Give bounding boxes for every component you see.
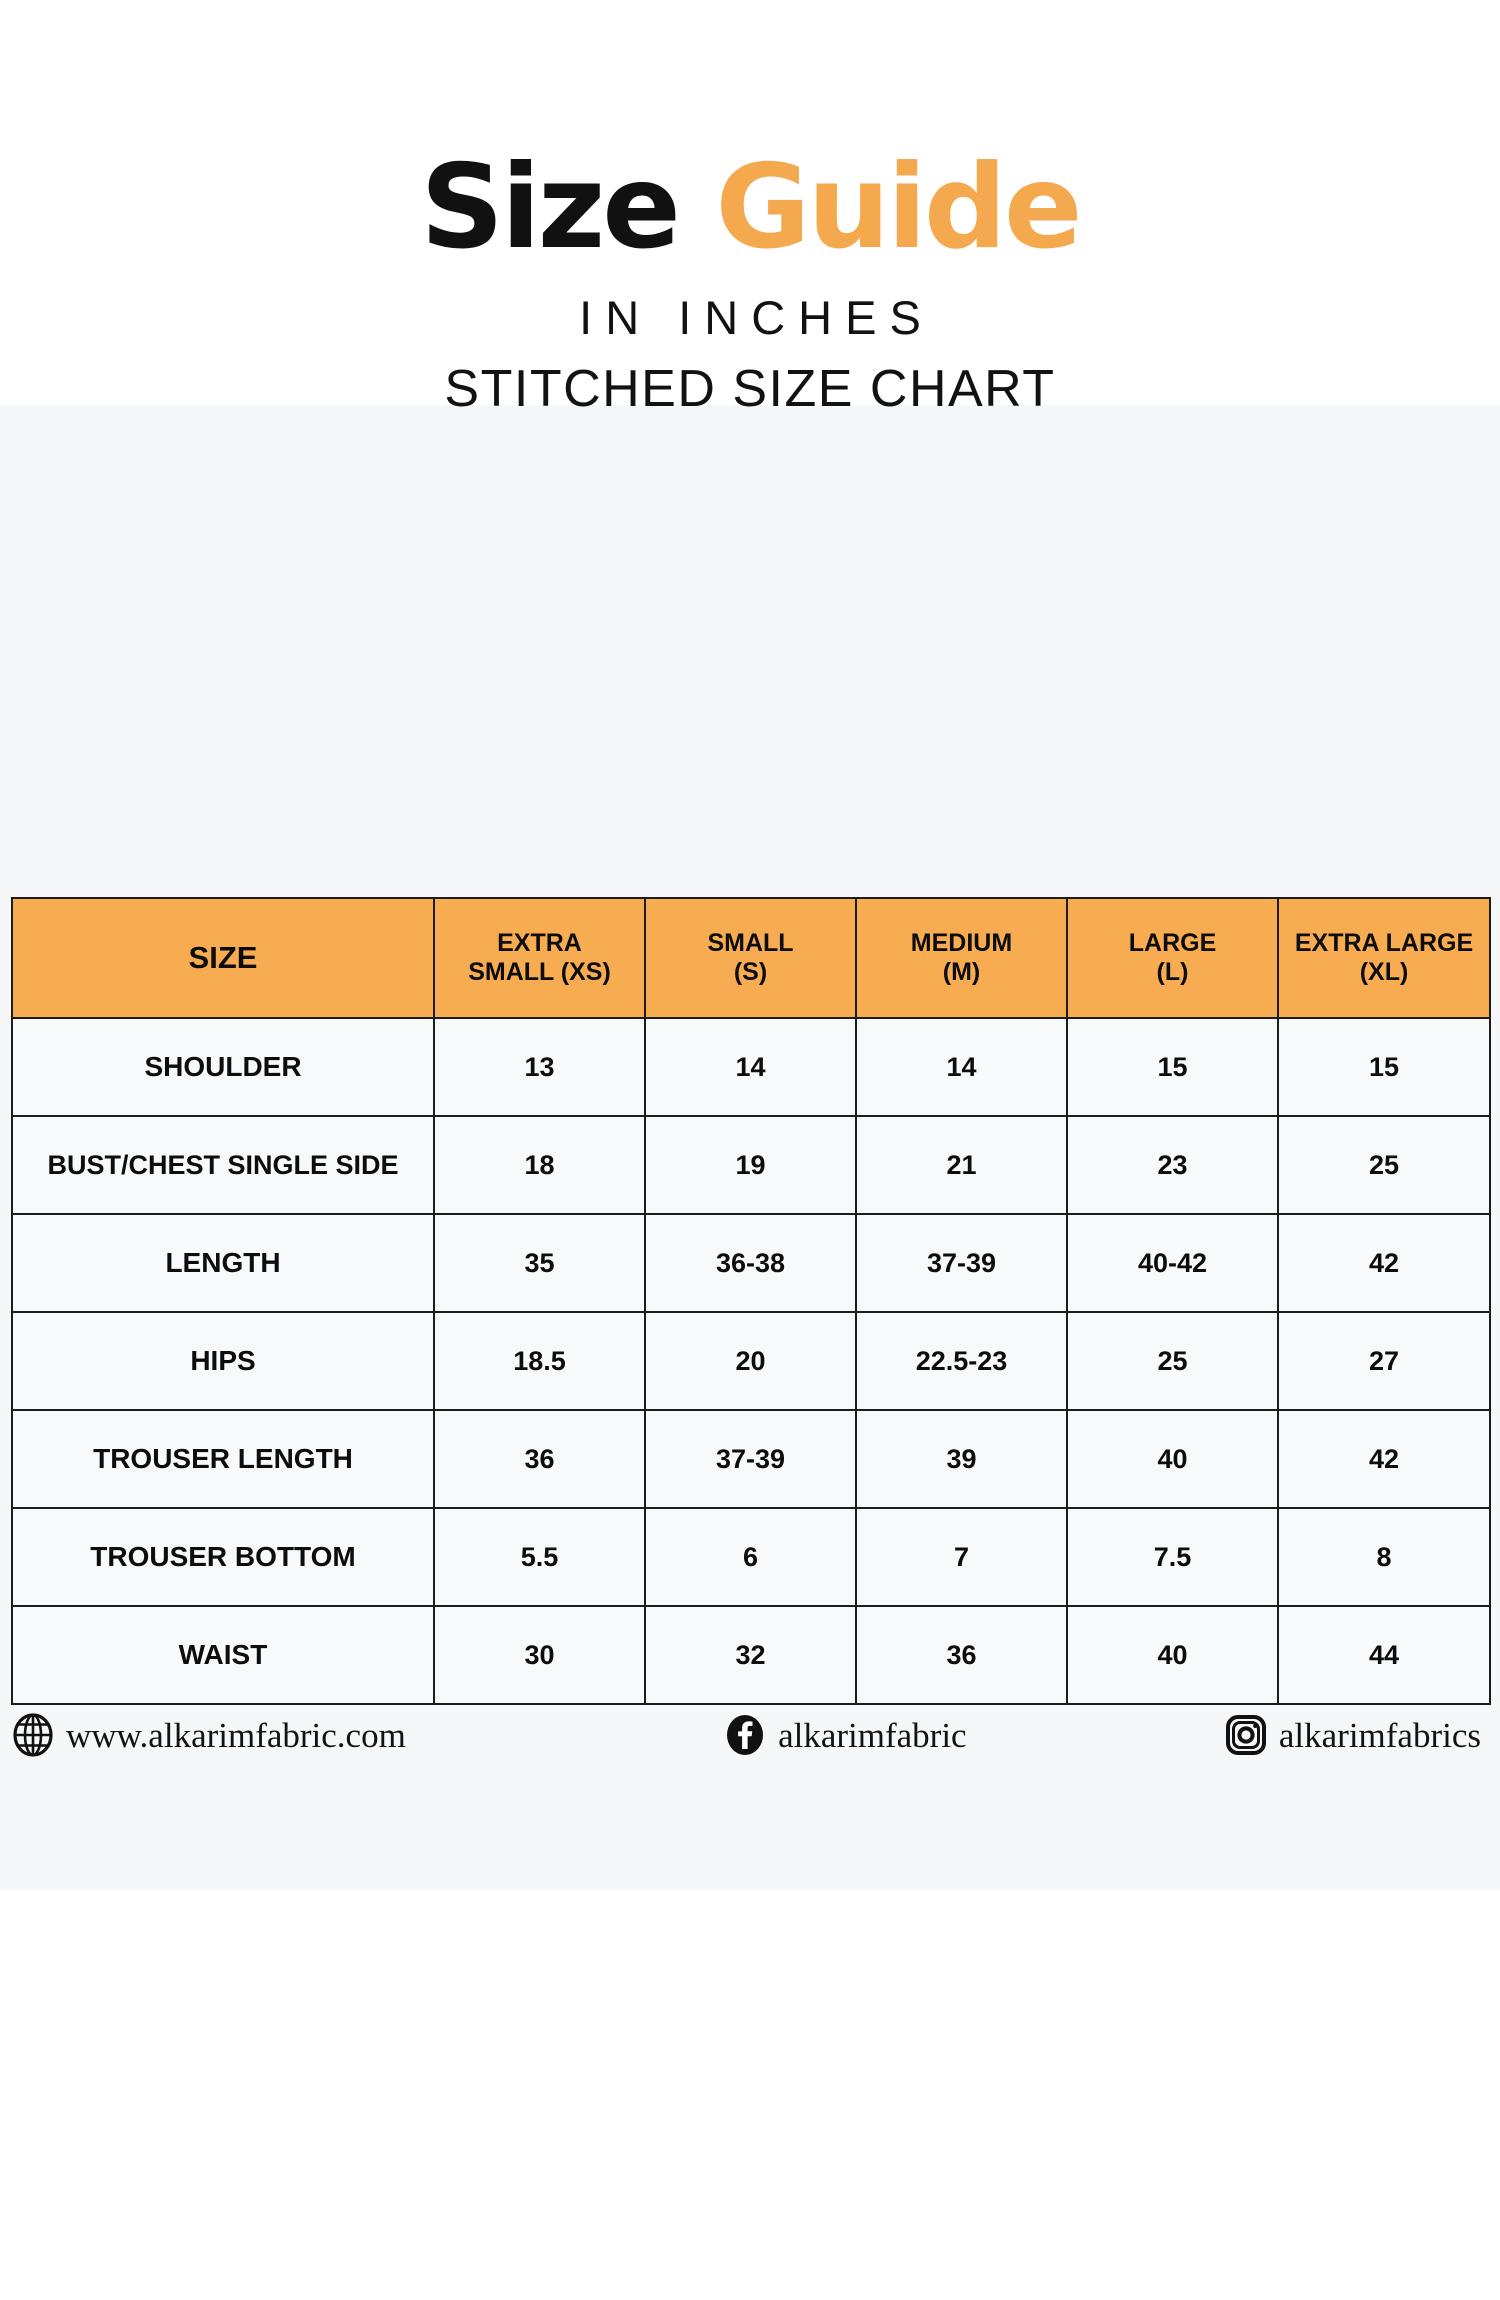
instagram-icon — [1224, 1713, 1268, 1757]
cell-shoulder-l: 15 — [1067, 1018, 1278, 1116]
globe-icon — [11, 1713, 55, 1757]
subtitle-units: IN INCHES — [0, 294, 1500, 341]
size-chart-table: SIZE EXTRASMALL (XS) SMALL(S) MEDIUM(M) … — [11, 897, 1491, 1705]
cell-hips-xs: 18.5 — [434, 1312, 645, 1410]
row-label-shoulder: SHOULDER — [12, 1018, 434, 1116]
cell-trouser-length-xs: 36 — [434, 1410, 645, 1508]
row-label-hips: HIPS — [12, 1312, 434, 1410]
cell-bust-m: 21 — [856, 1116, 1067, 1214]
column-header-m-line2: (M) — [943, 958, 980, 986]
cell-trouser-bottom-xs: 5.5 — [434, 1508, 645, 1606]
footer-facebook-text: alkarimfabric — [778, 1718, 967, 1753]
subtitle-chart-type: STITCHED SIZE CHART — [0, 363, 1500, 415]
footer-facebook[interactable]: alkarimfabric — [723, 1713, 967, 1757]
column-header-size-label: SIZE — [189, 940, 258, 975]
column-header-m: MEDIUM(M) — [856, 898, 1067, 1018]
column-header-xl-line2: (XL) — [1360, 958, 1409, 986]
cell-trouser-length-xl: 42 — [1278, 1410, 1490, 1508]
cell-length-xl: 42 — [1278, 1214, 1490, 1312]
column-header-size: SIZE — [12, 898, 434, 1018]
table-row: TROUSER BOTTOM 5.5 6 7 7.5 8 — [12, 1508, 1490, 1606]
column-header-s-line1: SMALL — [707, 929, 793, 957]
cell-waist-m: 36 — [856, 1606, 1067, 1704]
table-row: SHOULDER 13 14 14 15 15 — [12, 1018, 1490, 1116]
cell-bust-xs: 18 — [434, 1116, 645, 1214]
column-header-s: SMALL(S) — [645, 898, 856, 1018]
size-guide-page: Size Guide IN INCHES STITCHED SIZE CHART… — [0, 0, 1500, 2300]
cell-waist-s: 32 — [645, 1606, 856, 1704]
cell-length-m: 37-39 — [856, 1214, 1067, 1312]
row-label-bust-chest: BUST/CHEST SINGLE SIDE — [12, 1116, 434, 1214]
footer-instagram[interactable]: alkarimfabrics — [1224, 1713, 1481, 1757]
column-header-l-line1: LARGE — [1129, 929, 1217, 957]
cell-trouser-length-s: 37-39 — [645, 1410, 856, 1508]
column-header-xl-line1: EXTRA LARGE — [1295, 929, 1473, 957]
table-row: TROUSER LENGTH 36 37-39 39 40 42 — [12, 1410, 1490, 1508]
column-header-xs-line2: SMALL (XS) — [468, 958, 611, 986]
table-header-row: SIZE EXTRASMALL (XS) SMALL(S) MEDIUM(M) … — [12, 898, 1490, 1018]
column-header-xl: EXTRA LARGE(XL) — [1278, 898, 1490, 1018]
cell-waist-xl: 44 — [1278, 1606, 1490, 1704]
cell-shoulder-s: 14 — [645, 1018, 856, 1116]
cell-length-s: 36-38 — [645, 1214, 856, 1312]
cell-shoulder-xs: 13 — [434, 1018, 645, 1116]
cell-hips-xl: 27 — [1278, 1312, 1490, 1410]
row-label-trouser-bottom: TROUSER BOTTOM — [12, 1508, 434, 1606]
table-row: HIPS 18.5 20 22.5-23 25 27 — [12, 1312, 1490, 1410]
cell-trouser-bottom-xl: 8 — [1278, 1508, 1490, 1606]
cell-trouser-length-l: 40 — [1067, 1410, 1278, 1508]
cell-trouser-bottom-l: 7.5 — [1067, 1508, 1278, 1606]
page-title: Size Guide — [0, 150, 1500, 266]
column-header-xs-line1: EXTRA — [497, 929, 582, 957]
footer-instagram-text: alkarimfabrics — [1279, 1718, 1481, 1753]
column-header-s-line2: (S) — [734, 958, 767, 986]
page-title-accent: Guide — [715, 140, 1079, 275]
table-row: LENGTH 35 36-38 37-39 40-42 42 — [12, 1214, 1490, 1312]
cell-bust-l: 23 — [1067, 1116, 1278, 1214]
table-row: WAIST 30 32 36 40 44 — [12, 1606, 1490, 1704]
cell-length-l: 40-42 — [1067, 1214, 1278, 1312]
cell-trouser-bottom-s: 6 — [645, 1508, 856, 1606]
cell-shoulder-xl: 15 — [1278, 1018, 1490, 1116]
footer-website[interactable]: www.alkarimfabric.com — [11, 1713, 406, 1757]
table-row: BUST/CHEST SINGLE SIDE 18 19 21 23 25 — [12, 1116, 1490, 1214]
facebook-icon — [723, 1713, 767, 1757]
cell-bust-xl: 25 — [1278, 1116, 1490, 1214]
cell-shoulder-m: 14 — [856, 1018, 1067, 1116]
page-title-primary: Size — [420, 140, 715, 275]
column-header-m-line1: MEDIUM — [911, 929, 1012, 957]
cell-length-xs: 35 — [434, 1214, 645, 1312]
cell-hips-s: 20 — [645, 1312, 856, 1410]
footer-website-text: www.alkarimfabric.com — [66, 1718, 406, 1753]
title-block: Size Guide IN INCHES STITCHED SIZE CHART — [0, 150, 1500, 415]
cell-waist-l: 40 — [1067, 1606, 1278, 1704]
column-header-xs: EXTRASMALL (XS) — [434, 898, 645, 1018]
footer-contact-bar: www.alkarimfabric.com alkarimfabric alka… — [11, 1700, 1489, 1770]
cell-hips-l: 25 — [1067, 1312, 1278, 1410]
row-label-waist: WAIST — [12, 1606, 434, 1704]
cell-hips-m: 22.5-23 — [856, 1312, 1067, 1410]
column-header-l: LARGE(L) — [1067, 898, 1278, 1018]
cell-trouser-length-m: 39 — [856, 1410, 1067, 1508]
cell-trouser-bottom-m: 7 — [856, 1508, 1067, 1606]
row-label-length: LENGTH — [12, 1214, 434, 1312]
column-header-l-line2: (L) — [1157, 958, 1189, 986]
cell-bust-s: 19 — [645, 1116, 856, 1214]
cell-waist-xs: 30 — [434, 1606, 645, 1704]
row-label-trouser-length: TROUSER LENGTH — [12, 1410, 434, 1508]
